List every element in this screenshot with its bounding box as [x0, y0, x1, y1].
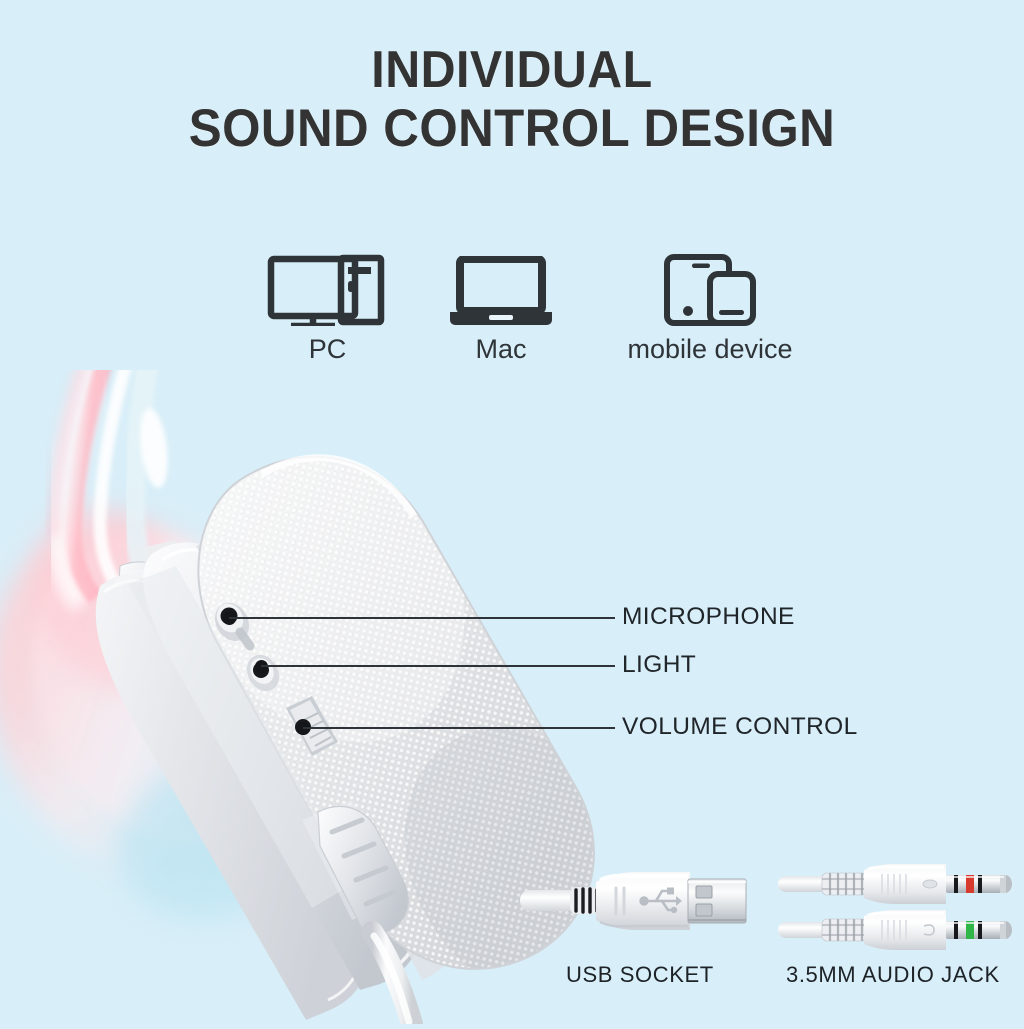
callout-light	[261, 665, 615, 667]
callout-line-volume	[303, 727, 615, 729]
callout-microphone	[229, 617, 615, 619]
page-title: INDIVIDUAL SOUND CONTROL DESIGN	[0, 44, 1024, 155]
compat-label-pc: PC	[255, 334, 400, 365]
callout-line-light	[261, 665, 615, 667]
title-line-1: INDIVIDUAL	[36, 44, 988, 96]
compat-item-mac: Mac	[437, 252, 565, 365]
audio-jack-microphone	[778, 864, 1012, 904]
compat-label-mac: Mac	[437, 334, 565, 365]
compatibility-row: PC Mac mobile	[0, 252, 1024, 387]
usb-a-plug-icon	[520, 852, 760, 948]
compat-label-mobile: mobile device	[560, 334, 860, 365]
callout-label-microphone: MICROPHONE	[622, 603, 795, 631]
compat-item-pc: PC	[255, 252, 400, 365]
usb-socket-label: USB SOCKET	[566, 962, 714, 988]
audio-jack-label: 3.5MM AUDIO JACK	[786, 962, 1000, 988]
audio-jack-icon	[778, 852, 1018, 952]
callout-label-volume: VOLUME CONTROL	[622, 713, 858, 741]
infographic-canvas: INDIVIDUAL SOUND CONTROL DESIGN PC	[0, 0, 1024, 1024]
laptop-icon	[437, 252, 565, 326]
tablet-phone-icon	[560, 252, 860, 326]
callout-volume	[303, 727, 615, 729]
title-line-2: SOUND CONTROL DESIGN	[36, 103, 988, 155]
desktop-computer-icon	[255, 252, 400, 326]
compat-item-mobile: mobile device	[560, 252, 860, 365]
callout-label-light: LIGHT	[622, 651, 696, 679]
callout-line-microphone	[229, 617, 615, 619]
audio-jack-headphone	[778, 910, 1012, 950]
